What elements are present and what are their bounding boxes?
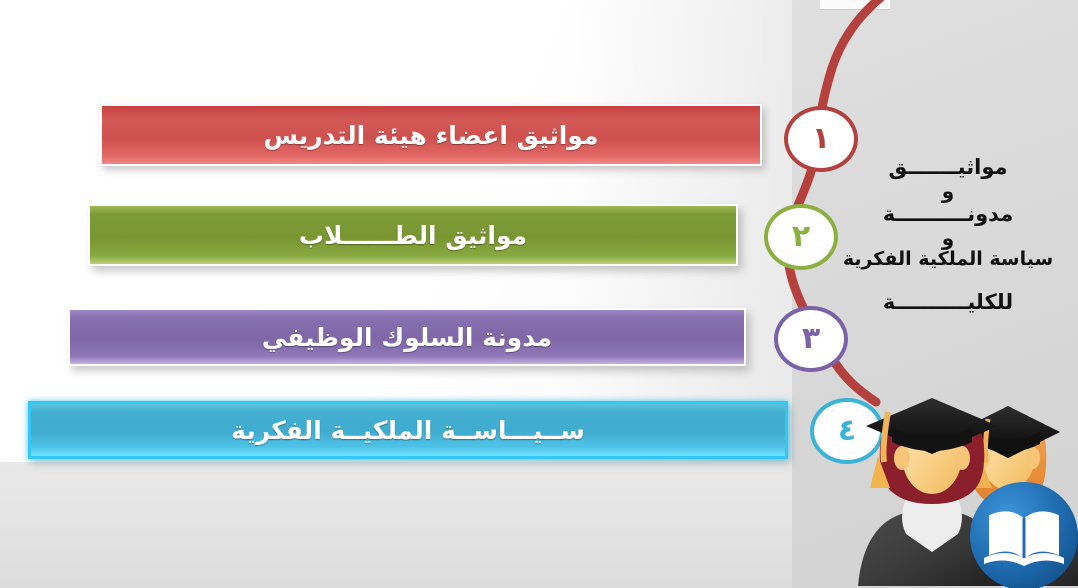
graduates-icon	[852, 372, 1078, 588]
title-line-2: مدونــــــــــة	[824, 203, 1072, 227]
title-conjunction-2: و	[824, 227, 1072, 250]
title-line-3: سياسة الملكية الفكرية	[824, 249, 1072, 271]
item-bar-4-label: ســيـــاســة الملكيــة الفكرية	[231, 416, 585, 445]
item-bar-4[interactable]: ســيـــاســة الملكيــة الفكرية	[28, 401, 788, 459]
slide-canvas: مواثيق اعضاء هيئة التدريس مواثيق الطــــ…	[0, 0, 1078, 588]
item-bar-3[interactable]: مدونة السلوك الوظيفي	[68, 308, 746, 366]
step-circle-3[interactable]: ٣	[774, 306, 848, 372]
item-bar-3-label: مدونة السلوك الوظيفي	[262, 323, 552, 352]
panel-footer-area	[0, 462, 792, 588]
item-bar-1-label: مواثيق اعضاء هيئة التدريس	[263, 121, 598, 150]
step-circle-3-number: ٣	[802, 324, 820, 354]
item-bar-1[interactable]: مواثيق اعضاء هيئة التدريس	[100, 104, 762, 166]
item-bar-2[interactable]: مواثيق الطــــــلاب	[88, 204, 738, 266]
title-conjunction-1: و	[824, 180, 1072, 203]
step-circle-2-number: ٢	[792, 222, 810, 252]
title-block: مواثيـــــــق و مدونــــــــــة و سياسة …	[824, 156, 1072, 315]
item-bar-2-label: مواثيق الطــــــلاب	[299, 221, 527, 250]
title-line-4: للكليــــــــــة	[824, 291, 1072, 315]
open-book-badge-icon	[970, 482, 1078, 588]
step-circle-1-number: ١	[812, 124, 830, 154]
title-line-1: مواثيـــــــق	[824, 156, 1072, 180]
